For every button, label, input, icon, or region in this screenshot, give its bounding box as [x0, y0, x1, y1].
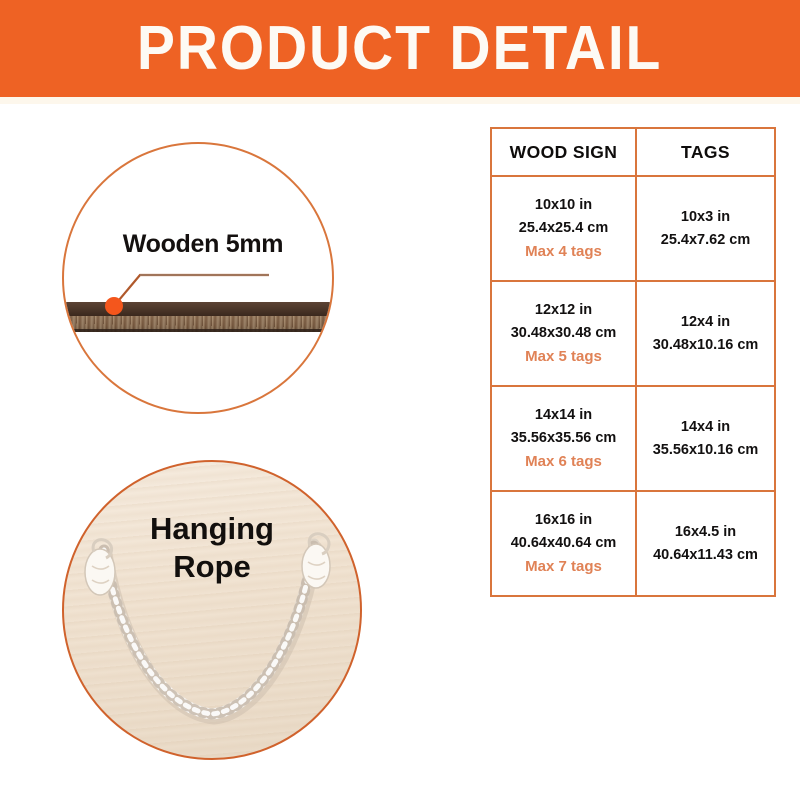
column-header-wood-sign: WOOD SIGN — [491, 128, 636, 176]
wood-thickness-illustration: Wooden 5mm — [62, 142, 334, 414]
hanging-rope-illustration: Hanging Rope — [62, 460, 362, 760]
wood-sign-cell: 10x10 in 25.4x25.4 cm Max 4 tags — [491, 176, 636, 281]
wood-sign-cell: 12x12 in 30.48x30.48 cm Max 5 tags — [491, 281, 636, 386]
tag-size-inches: 12x4 in — [637, 311, 774, 334]
header-banner: PRODUCT DETAIL — [0, 0, 800, 97]
tags-cell: 10x3 in 25.4x7.62 cm — [636, 176, 775, 281]
tag-size-inches: 16x4.5 in — [637, 521, 774, 544]
tag-size-inches: 14x4 in — [637, 416, 774, 439]
callout-dot-icon — [105, 297, 123, 315]
tag-size-cm: 35.56x10.16 cm — [637, 439, 774, 462]
wood-sign-cell: 16x16 in 40.64x40.64 cm Max 7 tags — [491, 491, 636, 596]
max-tags-note: Max 7 tags — [492, 555, 635, 579]
sign-size-cm: 40.64x40.64 cm — [492, 532, 635, 555]
sign-size-cm: 25.4x25.4 cm — [492, 217, 635, 240]
rope-graphic — [64, 462, 360, 758]
page-title: PRODUCT DETAIL — [137, 18, 662, 80]
max-tags-note: Max 5 tags — [492, 345, 635, 369]
sign-size-inches: 14x14 in — [492, 404, 635, 427]
tag-size-cm: 25.4x7.62 cm — [637, 229, 774, 252]
sign-size-cm: 30.48x30.48 cm — [492, 322, 635, 345]
table-row: 10x10 in 25.4x25.4 cm Max 4 tags 10x3 in… — [491, 176, 775, 281]
sign-size-inches: 12x12 in — [492, 299, 635, 322]
sign-size-inches: 16x16 in — [492, 509, 635, 532]
max-tags-note: Max 6 tags — [492, 450, 635, 474]
tag-size-inches: 10x3 in — [637, 206, 774, 229]
wood-slab-graphic — [62, 302, 334, 332]
callout-leader-line — [64, 144, 332, 412]
wood-slab-edge-line — [62, 329, 334, 332]
table-row: 16x16 in 40.64x40.64 cm Max 7 tags 16x4.… — [491, 491, 775, 596]
wood-thickness-label: Wooden 5mm — [64, 230, 332, 259]
wood-sign-cell: 14x14 in 35.56x35.56 cm Max 6 tags — [491, 386, 636, 491]
tags-cell: 14x4 in 35.56x10.16 cm — [636, 386, 775, 491]
header-underline — [0, 97, 800, 104]
size-spec-table: WOOD SIGN TAGS 10x10 in 25.4x25.4 cm Max… — [490, 127, 776, 597]
left-illustration-column: Wooden 5mm Hanging Rope — [0, 104, 430, 800]
tag-size-cm: 40.64x11.43 cm — [637, 544, 774, 567]
sign-size-cm: 35.56x35.56 cm — [492, 427, 635, 450]
table-header-row: WOOD SIGN TAGS — [491, 128, 775, 176]
column-header-tags: TAGS — [636, 128, 775, 176]
tag-size-cm: 30.48x10.16 cm — [637, 334, 774, 357]
tags-cell: 16x4.5 in 40.64x11.43 cm — [636, 491, 775, 596]
table-row: 14x14 in 35.56x35.56 cm Max 6 tags 14x4 … — [491, 386, 775, 491]
tags-cell: 12x4 in 30.48x10.16 cm — [636, 281, 775, 386]
max-tags-note: Max 4 tags — [492, 240, 635, 264]
sign-size-inches: 10x10 in — [492, 194, 635, 217]
table-row: 12x12 in 30.48x30.48 cm Max 5 tags 12x4 … — [491, 281, 775, 386]
wood-slab-top-layer — [62, 302, 334, 316]
